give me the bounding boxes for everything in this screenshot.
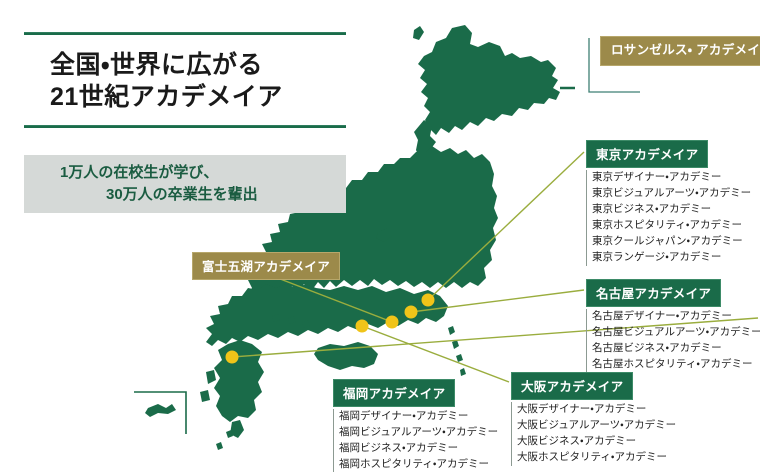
list-item[interactable]: 大阪ビジュアルアーツ・アカデミー bbox=[517, 418, 676, 434]
title-block: 全国・世界に広がる 21世紀アカデメイア bbox=[24, 32, 346, 128]
list-item[interactable]: 名古屋ホスピタリティ・アカデミー bbox=[592, 357, 760, 373]
panel-list-tokyo: 東京デザイナー・アカデミー 東京ビジュアルアーツ・アカデミー 東京ビジネス・アカ… bbox=[586, 170, 751, 266]
hokkaido-shape bbox=[418, 25, 560, 135]
marker-fuji[interactable] bbox=[386, 316, 399, 329]
subtitle-line-1: 1万人の在校生が学び、 bbox=[24, 162, 346, 185]
list-item[interactable]: 東京クールジャパン・アカデミー bbox=[592, 234, 751, 250]
panel-list-fukuoka: 福岡デザイナー・アカデミー 福岡ビジュアルアーツ・アカデミー 福岡ビジネス・アカ… bbox=[333, 409, 498, 472]
panel-fukuoka[interactable]: 福岡アカデメイア 福岡デザイナー・アカデミー 福岡ビジュアルアーツ・アカデミー … bbox=[333, 379, 498, 472]
ryukyu-chain bbox=[216, 430, 233, 450]
list-item[interactable]: 大阪デザイナー・アカデミー bbox=[517, 402, 676, 418]
panel-fuji[interactable]: 富士五湖アカデメイア bbox=[192, 252, 340, 280]
title-line-2: 21世紀アカデメイア bbox=[50, 83, 283, 111]
kyushu-shape bbox=[214, 340, 264, 422]
list-item[interactable]: 福岡ビジネス・アカデミー bbox=[339, 441, 498, 457]
panel-list-nagoya: 名古屋デザイナー・アカデミー 名古屋ビジュアルアーツ・アカデミー 名古屋ビジネス… bbox=[586, 309, 760, 373]
panel-nagoya[interactable]: 名古屋アカデメイア 名古屋デザイナー・アカデミー 名古屋ビジュアルアーツ・アカデ… bbox=[586, 279, 760, 373]
kyushu-west-islands bbox=[200, 370, 216, 402]
subtitle-line-2: 30万人の卒業生を輩出 bbox=[24, 184, 346, 207]
panel-header-tokyo[interactable]: 東京アカデメイア bbox=[586, 140, 708, 168]
izu-islands bbox=[448, 326, 466, 376]
marker-nagoya[interactable] bbox=[405, 306, 418, 319]
title-rule-bottom bbox=[24, 125, 346, 128]
list-item[interactable]: 名古屋デザイナー・アカデミー bbox=[592, 309, 760, 325]
infographic-root: 全国・世界に広がる 21世紀アカデメイア 1万人の在校生が学び、 30万人の卒業… bbox=[0, 0, 760, 472]
title-line-1: 全国・世界に広がる bbox=[50, 51, 263, 79]
panel-tokyo[interactable]: 東京アカデメイア 東京デザイナー・アカデミー 東京ビジュアルアーツ・アカデミー … bbox=[586, 140, 751, 266]
list-item[interactable]: 名古屋ビジュアルアーツ・アカデミー bbox=[592, 325, 760, 341]
marker-tokyo[interactable] bbox=[422, 294, 435, 307]
connector-osaka bbox=[362, 326, 509, 382]
list-item[interactable]: 東京ビジュアルアーツ・アカデミー bbox=[592, 186, 751, 202]
list-item[interactable]: 大阪ビジネス・アカデミー bbox=[517, 434, 676, 450]
panel-header-losangeles[interactable]: ロサンゼルス・ アカデメイア bbox=[600, 36, 760, 66]
list-item[interactable]: 東京ホスピタリティ・アカデミー bbox=[592, 218, 751, 234]
marker-fukuoka[interactable] bbox=[226, 351, 239, 364]
panel-header-fukuoka[interactable]: 福岡アカデメイア bbox=[333, 379, 455, 407]
list-item[interactable]: 大阪ホスピタリティ・アカデミー bbox=[517, 450, 676, 466]
list-item[interactable]: 福岡デザイナー・アカデミー bbox=[339, 409, 498, 425]
panel-osaka[interactable]: 大阪アカデメイア 大阪デザイナー・アカデミー 大阪ビジュアルアーツ・アカデミー … bbox=[511, 372, 676, 466]
list-item[interactable]: 福岡ホスピタリティ・アカデミー bbox=[339, 457, 498, 472]
page-title: 全国・世界に広がる 21世紀アカデメイア bbox=[24, 35, 346, 125]
list-item[interactable]: 名古屋ビジネス・アカデミー bbox=[592, 341, 760, 357]
panel-list-osaka: 大阪デザイナー・アカデミー 大阪ビジュアルアーツ・アカデミー 大阪ビジネス・アカ… bbox=[511, 402, 676, 466]
list-item[interactable]: 東京デザイナー・アカデミー bbox=[592, 170, 751, 186]
okinawa-inset bbox=[134, 392, 186, 434]
hokkaido-cape bbox=[413, 26, 424, 40]
list-item[interactable]: 福岡ビジュアルアーツ・アカデミー bbox=[339, 425, 498, 441]
panel-losangeles[interactable]: ロサンゼルス・ アカデメイア bbox=[600, 36, 760, 66]
panel-header-osaka[interactable]: 大阪アカデメイア bbox=[511, 372, 633, 400]
subtitle-band: 1万人の在校生が学び、 30万人の卒業生を輩出 bbox=[24, 155, 346, 213]
list-item[interactable]: 東京ビジネス・アカデミー bbox=[592, 202, 751, 218]
panel-header-nagoya[interactable]: 名古屋アカデメイア bbox=[586, 279, 721, 307]
list-item[interactable]: 東京ランゲージ・アカデミー bbox=[592, 250, 751, 266]
marker-osaka[interactable] bbox=[356, 320, 369, 333]
panel-header-fuji[interactable]: 富士五湖アカデメイア bbox=[192, 252, 340, 280]
